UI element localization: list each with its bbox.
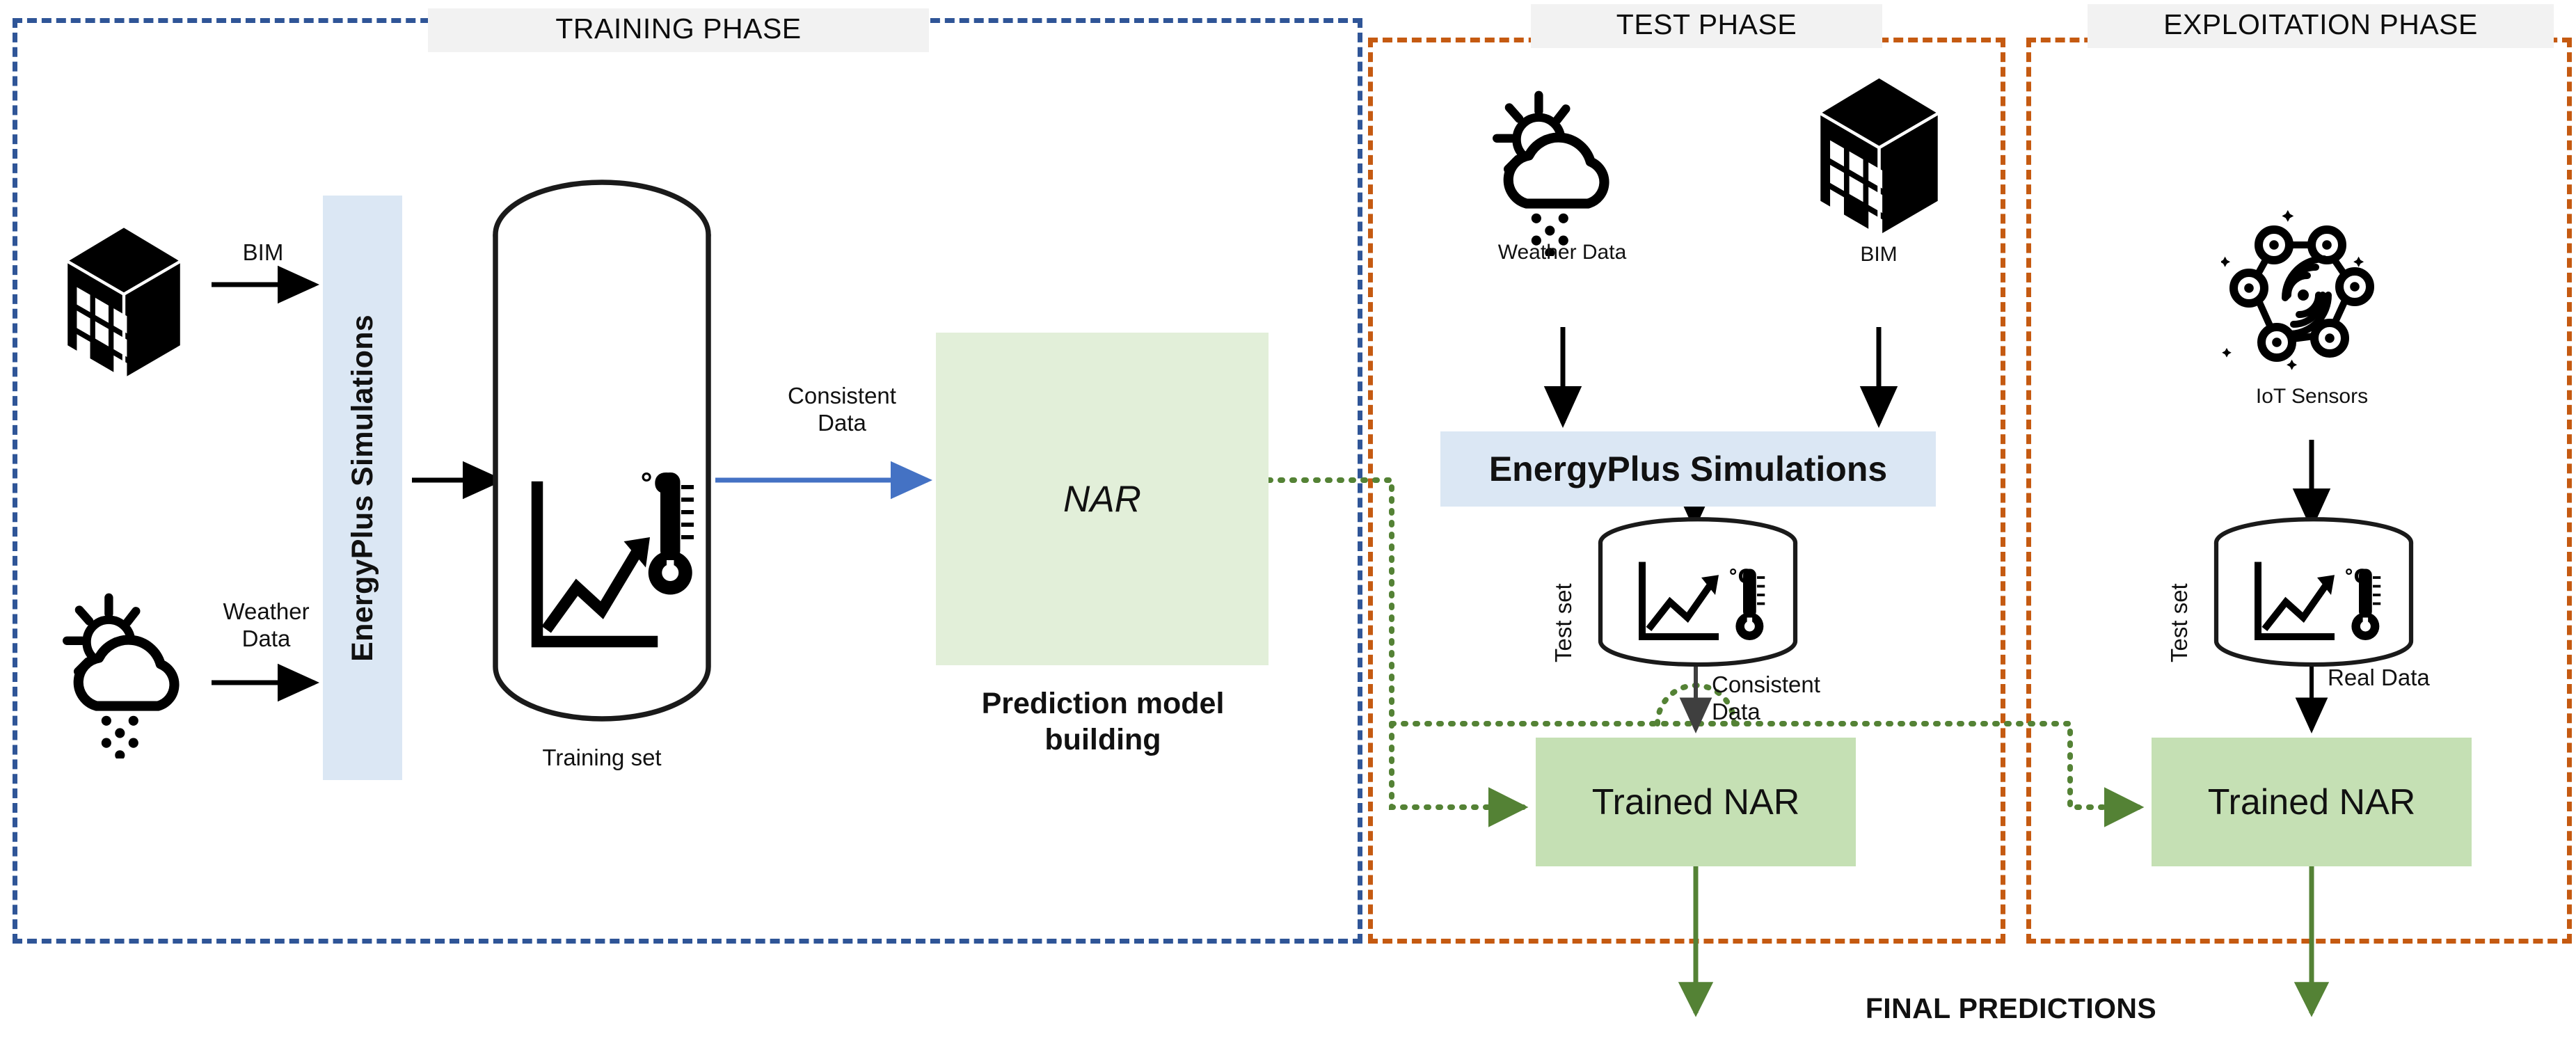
nar-box: NAR <box>936 333 1269 665</box>
trained-nar-label-test: Trained NAR <box>1592 781 1800 823</box>
trained-nar-box-exploitation: Trained NAR <box>2152 738 2472 866</box>
iot-sensors-icon-label: IoT Sensors <box>2213 384 2411 408</box>
weather-sun-cloud-rain-icon <box>52 585 212 758</box>
consistent-data-label-test: Consistent Data <box>1712 672 1907 726</box>
test-phase-title: TEST PHASE <box>1531 4 1882 48</box>
building-icon <box>61 223 186 386</box>
test-set-caption-exploitation: Test set <box>2166 537 2193 662</box>
weather-arrow-label: Weather Data <box>209 598 324 653</box>
database-cylinder-icon-test: °C <box>1593 515 1802 672</box>
iot-sensors-icon <box>2221 209 2402 390</box>
test-set-caption-test: Test set <box>1550 537 1577 662</box>
real-data-label: Real Data <box>2328 665 2502 692</box>
nar-caption: Prediction model building <box>905 685 1301 758</box>
final-predictions-label: FINAL PREDICTIONS <box>1760 992 2261 1025</box>
consistent-data-label-training: Consistent Data <box>738 383 946 437</box>
diagram-canvas: TRAINING PHASE TEST PHASE EXPLOITATION P… <box>0 0 2576 1041</box>
svg-text:°C: °C <box>1728 566 1752 588</box>
database-cylinder-icon-exploitation: °C <box>2209 515 2418 672</box>
building-icon-test <box>1815 73 1943 244</box>
exploitation-phase-title: EXPLOITATION PHASE <box>2088 4 2554 48</box>
svg-text:°C: °C <box>639 467 674 500</box>
energyplus-simulations-label-test: EnergyPlus Simulations <box>1489 449 1887 489</box>
test-weather-icon-label: Weather Data <box>1461 240 1663 264</box>
energyplus-simulations-box-training: EnergyPlus Simulations <box>323 196 402 780</box>
database-cylinder-icon-training: °C <box>487 174 717 738</box>
test-bim-icon-label: BIM <box>1792 242 1966 267</box>
bim-arrow-label: BIM <box>211 239 315 267</box>
trained-nar-box-test: Trained NAR <box>1536 738 1856 866</box>
trained-nar-label-exploitation: Trained NAR <box>2208 781 2416 823</box>
training-phase-title: TRAINING PHASE <box>428 8 929 52</box>
energyplus-simulations-label-training: EnergyPlus Simulations <box>346 315 380 662</box>
nar-label: NAR <box>1063 478 1141 520</box>
training-set-caption: Training set <box>487 745 717 772</box>
weather-sun-cloud-rain-icon-test <box>1482 82 1642 256</box>
energyplus-simulations-box-test: EnergyPlus Simulations <box>1440 431 1936 507</box>
svg-text:°C: °C <box>2344 566 2368 588</box>
